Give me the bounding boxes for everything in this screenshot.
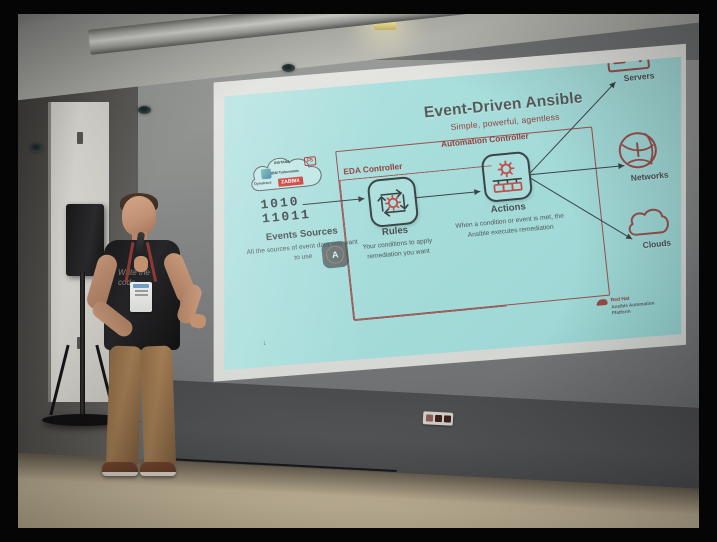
actions-icon[interactable]	[480, 151, 533, 203]
red-hat-fedora-icon	[596, 299, 608, 306]
target-list: Servers Networks	[595, 42, 686, 250]
photo-frame: Event-Driven Ansible Simple, powerful, a…	[0, 0, 717, 542]
slide-content: Event-Driven Ansible Simple, powerful, a…	[218, 42, 686, 380]
ceiling-downlight	[138, 106, 151, 114]
red-hat-logo: Red Hat Ansible Automation Platform	[596, 293, 655, 318]
logo-f5: F5	[304, 156, 317, 166]
ansible-badge[interactable]: A	[321, 241, 350, 269]
photo-content: Event-Driven Ansible Simple, powerful, a…	[18, 14, 699, 528]
event-sources-cloud-icon: INSTANA F5 IBM Turbonomic Dynatrace ZABB…	[243, 151, 325, 198]
presenter-left-shoe	[102, 462, 138, 476]
projector-screen: Event-Driven Ansible Simple, powerful, a…	[204, 42, 684, 394]
ceiling-skylight	[24, 14, 103, 16]
presenter-right-shoe	[140, 462, 176, 476]
presenter-right-leg	[140, 345, 176, 466]
conference-badge	[130, 282, 152, 312]
logo-dynatrace-mark	[261, 168, 272, 179]
presenter-right-hand	[189, 313, 207, 330]
cloud-icon	[623, 203, 672, 239]
target-networks[interactable]: Networks	[615, 127, 680, 184]
target-clouds[interactable]: Clouds	[623, 202, 686, 252]
slide-page-number: 1	[263, 341, 266, 347]
presenter-left-leg	[106, 345, 142, 466]
binary-stream: 1010 11011	[260, 194, 312, 226]
presenter-legs	[106, 346, 178, 468]
red-hat-product-line2: Platform	[612, 309, 631, 316]
presenter: Write the code	[78, 196, 218, 488]
ansible-badge-letter: A	[325, 245, 345, 265]
globe-network-icon	[615, 128, 661, 172]
ceiling-downlight	[30, 144, 43, 152]
wall-outlet[interactable]	[423, 411, 454, 426]
presenter-left-hand	[134, 256, 148, 272]
event-sources-block: INSTANA F5 IBM Turbonomic Dynatrace ZABB…	[243, 148, 343, 158]
rules-icon[interactable]	[366, 176, 419, 228]
presenter-head	[122, 196, 156, 236]
